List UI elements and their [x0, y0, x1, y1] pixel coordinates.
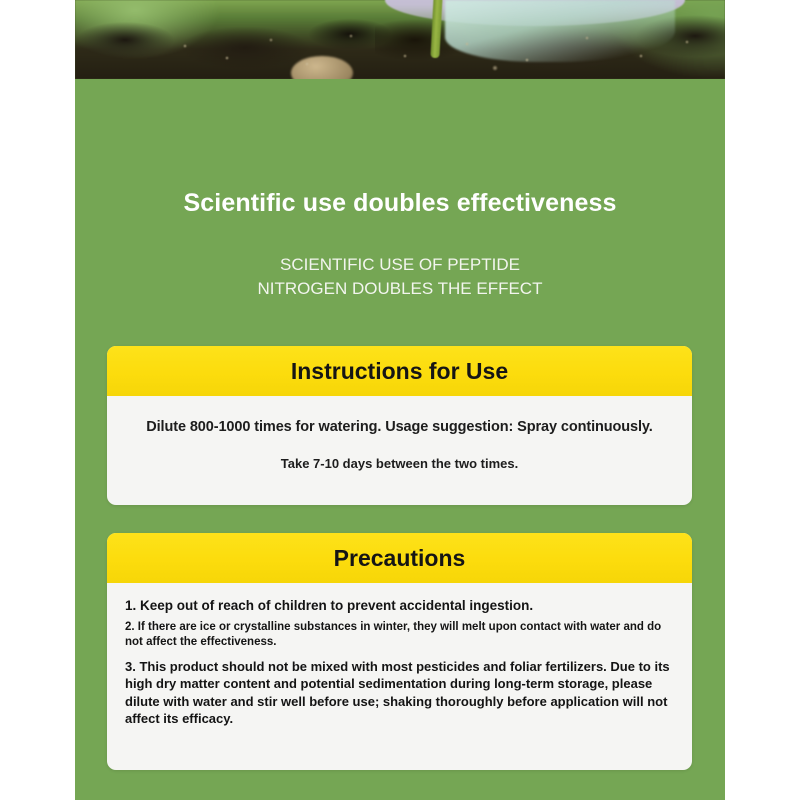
precaution-item-3: 3. This product should not be mixed with… — [125, 658, 674, 728]
instructions-card-title: Instructions for Use — [107, 346, 692, 396]
instructions-line-2: Take 7-10 days between the two times. — [129, 456, 670, 471]
page-subtitle-line-1: SCIENTIFIC USE OF PEPTIDE — [75, 253, 725, 277]
instructions-line-1: Dilute 800-1000 times for watering. Usag… — [129, 419, 670, 435]
hero-photo — [75, 0, 725, 79]
instructions-card-body: Dilute 800-1000 times for watering. Usag… — [107, 419, 692, 471]
photo-soil-specks — [75, 0, 725, 79]
precautions-card-title: Precautions — [107, 533, 692, 583]
page-subtitle: SCIENTIFIC USE OF PEPTIDE NITROGEN DOUBL… — [75, 253, 725, 301]
product-info-poster: Scientific use doubles effectiveness SCI… — [0, 0, 800, 800]
instructions-card: Instructions for Use Dilute 800-1000 tim… — [107, 346, 692, 505]
precaution-item-2: 2. If there are ice or crystalline subst… — [125, 620, 674, 650]
page-title: Scientific use doubles effectiveness — [75, 189, 725, 218]
precaution-item-1: 1. Keep out of reach of children to prev… — [125, 597, 674, 615]
page-subtitle-line-2: NITROGEN DOUBLES THE EFFECT — [75, 277, 725, 301]
precautions-card-body: 1. Keep out of reach of children to prev… — [107, 583, 692, 728]
precautions-card: Precautions 1. Keep out of reach of chil… — [107, 533, 692, 770]
